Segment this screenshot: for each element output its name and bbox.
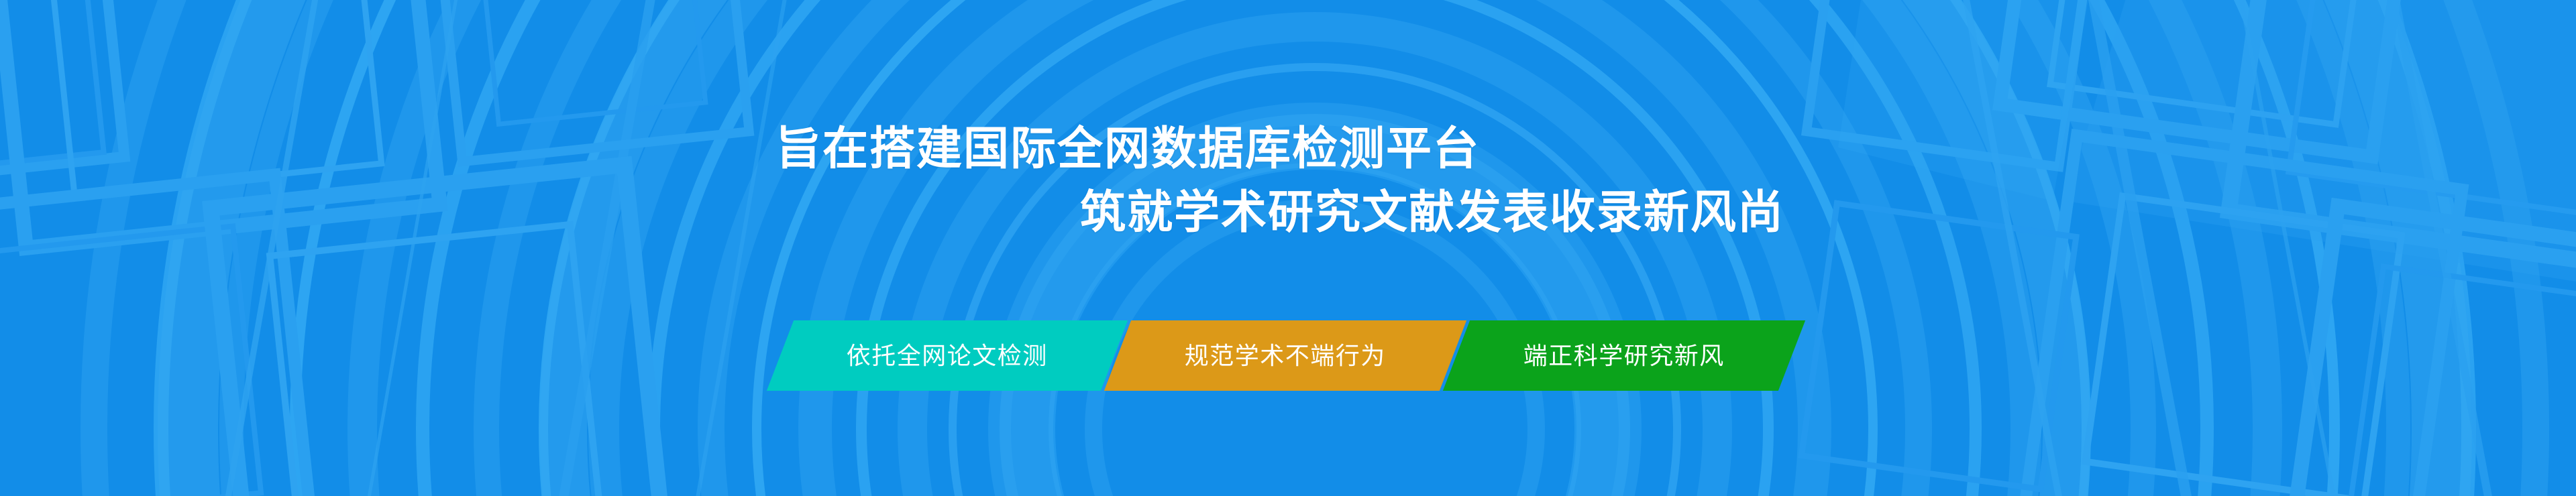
promo-banner: 旨在搭建国际全网数据库检测平台 筑就学术研究文献发表收录新风尚 依托全网论文检测… xyxy=(0,0,2576,496)
badge-research-ethos-label: 端正科学研究新风 xyxy=(1523,344,1725,368)
headline-block: 旨在搭建国际全网数据库检测平台 筑就学术研究文献发表收录新风尚 xyxy=(0,117,2576,245)
badge-paper-detection-label: 依托全网论文检测 xyxy=(847,344,1048,368)
grid-pattern-left xyxy=(0,0,794,496)
background-decoration xyxy=(0,0,2576,496)
badge-academic-misconduct-label: 规范学术不端行为 xyxy=(1185,344,1386,368)
glow-bands xyxy=(188,0,2442,496)
feature-badge-row: 依托全网论文检测 规范学术不端行为 端正科学研究新风 xyxy=(780,320,1792,391)
grid-pattern-right xyxy=(1749,0,2576,496)
concentric-arcs xyxy=(94,0,2536,496)
diagonal-streaks xyxy=(221,0,2495,496)
badge-academic-misconduct[interactable]: 规范学术不端行为 xyxy=(1104,320,1466,391)
badge-paper-detection[interactable]: 依托全网论文检测 xyxy=(767,320,1128,391)
headline-line-1: 旨在搭建国际全网数据库检测平台 xyxy=(0,117,2576,181)
badge-research-ethos[interactable]: 端正科学研究新风 xyxy=(1443,320,1805,391)
headline-line-2: 筑就学术研究文献发表收录新风尚 xyxy=(0,181,2576,245)
background-pattern-svg xyxy=(0,0,2576,496)
background-base xyxy=(0,0,2576,496)
